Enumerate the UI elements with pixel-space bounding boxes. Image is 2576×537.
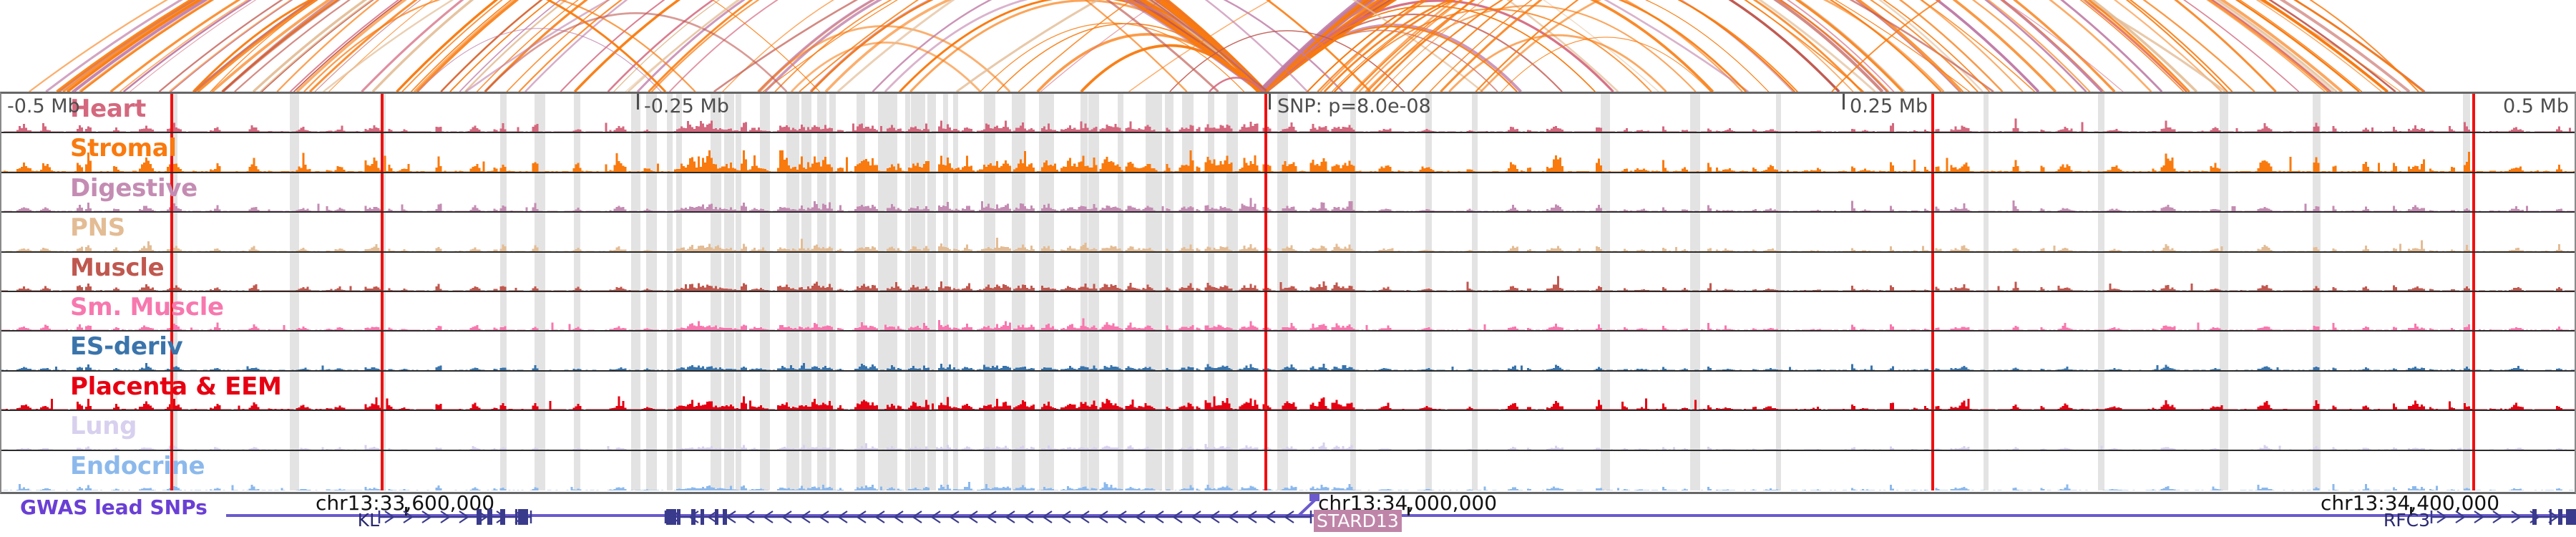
ruler-label: -0.25 Mb [644, 95, 729, 117]
track-label-es-deriv: ES-deriv [70, 332, 182, 361]
interaction-arc [760, 0, 1267, 92]
gene-model-kl[interactable] [379, 509, 531, 525]
gene-label-kl[interactable]: KL [358, 510, 379, 531]
genome-browser-view: Heart-0.5 Mb-0.25 Mb0.25 Mb0.5 MbSNP: p=… [0, 0, 2576, 537]
track-heart[interactable]: Heart-0.5 Mb-0.25 Mb0.25 Mb0.5 MbSNP: p=… [1, 94, 2575, 133]
exon-block [2532, 509, 2537, 525]
exon-block [500, 509, 505, 525]
exon-block [2566, 509, 2576, 525]
tissue-signal-tracks: Heart-0.5 Mb-0.25 Mb0.25 Mb0.5 MbSNP: p=… [0, 92, 2576, 494]
ruler-label: 0.5 Mb [2503, 95, 2569, 117]
interaction-arc [1261, 0, 2425, 92]
exon-block [715, 509, 718, 525]
exon-block [2558, 509, 2562, 525]
signal-profile [1, 428, 2575, 450]
signal-profile [1, 309, 2575, 330]
track-stromal[interactable]: Stromal [1, 133, 2575, 173]
interaction-arc [1265, 0, 2114, 92]
track-label-pns: PNS [70, 213, 125, 242]
track-placenta-eem[interactable]: Placenta & EEM [1, 372, 2575, 411]
track-sm-muscle[interactable]: Sm. Muscle [1, 292, 2575, 332]
exon-block [477, 509, 482, 525]
exon-block [701, 509, 704, 525]
exon-block [515, 509, 517, 525]
ruler-tick [1843, 94, 1845, 110]
signal-profile [1, 269, 2575, 291]
gene-model-rfc3[interactable] [2431, 509, 2576, 525]
track-pns[interactable]: PNS [1, 213, 2575, 252]
snp-marker-square [1309, 494, 1319, 501]
interaction-arc [210, 0, 820, 92]
track-label-lung: Lung [70, 412, 137, 440]
track-label-stromal: Stromal [70, 134, 177, 163]
signal-profile [1, 388, 2575, 410]
track-label-sm-muscle: Sm. Muscle [70, 293, 224, 321]
interaction-arc [59, 0, 1268, 92]
track-label-endocrine: Endocrine [70, 452, 205, 480]
interaction-arc [628, 0, 1618, 92]
exon-block [666, 509, 676, 525]
track-label-muscle: Muscle [70, 253, 164, 282]
ruler-tick [637, 94, 639, 110]
exon-block [2550, 509, 2552, 525]
interaction-arc [1258, 0, 2183, 92]
exon-block [691, 509, 696, 525]
track-lung[interactable]: Lung [1, 411, 2575, 450]
signal-profile [1, 469, 2575, 490]
track-digestive[interactable]: Digestive [1, 173, 2575, 213]
exon-block [487, 509, 492, 525]
signal-profile [1, 230, 2575, 251]
interaction-arc [310, 0, 1263, 92]
gene-annotation-row: KLSTARD13RFC3 [0, 501, 2576, 537]
interaction-arc [235, 0, 1266, 92]
track-endocrine[interactable]: Endocrine [1, 451, 2575, 490]
track-label-digestive: Digestive [70, 174, 197, 203]
interaction-arc [329, 0, 1260, 92]
signal-profile [1, 190, 2575, 211]
gene-label-stard13[interactable]: STARD13 [1314, 510, 1402, 532]
interaction-arc [1038, 34, 1258, 92]
chromatin-interaction-arcs-panel [0, 0, 2576, 92]
snp-pvalue-annotation: SNP: p=8.0e-08 [1277, 95, 1431, 117]
ruler-label: -0.5 Mb [7, 95, 80, 117]
interaction-arc [212, 0, 1262, 92]
gene-label-rfc3[interactable]: RFC3 [2384, 510, 2430, 531]
exon-block [677, 509, 680, 525]
gene-model-stard13[interactable] [665, 509, 1311, 525]
ruler-label: 0.25 Mb [1850, 95, 1928, 117]
track-es-deriv[interactable]: ES-deriv [1, 332, 2575, 371]
arc-svg [0, 0, 2576, 92]
interaction-arc [291, 0, 1263, 92]
track-label-heart: Heart [70, 95, 146, 123]
ruler-tick [1269, 94, 1271, 110]
track-label-placenta-eem: Placenta & EEM [70, 372, 282, 401]
track-muscle[interactable]: Muscle [1, 253, 2575, 292]
signal-profile [1, 349, 2575, 370]
signal-profile [1, 150, 2575, 172]
exon-block [723, 509, 727, 525]
exon-block [518, 509, 528, 525]
gene-models-svg [0, 501, 2576, 537]
